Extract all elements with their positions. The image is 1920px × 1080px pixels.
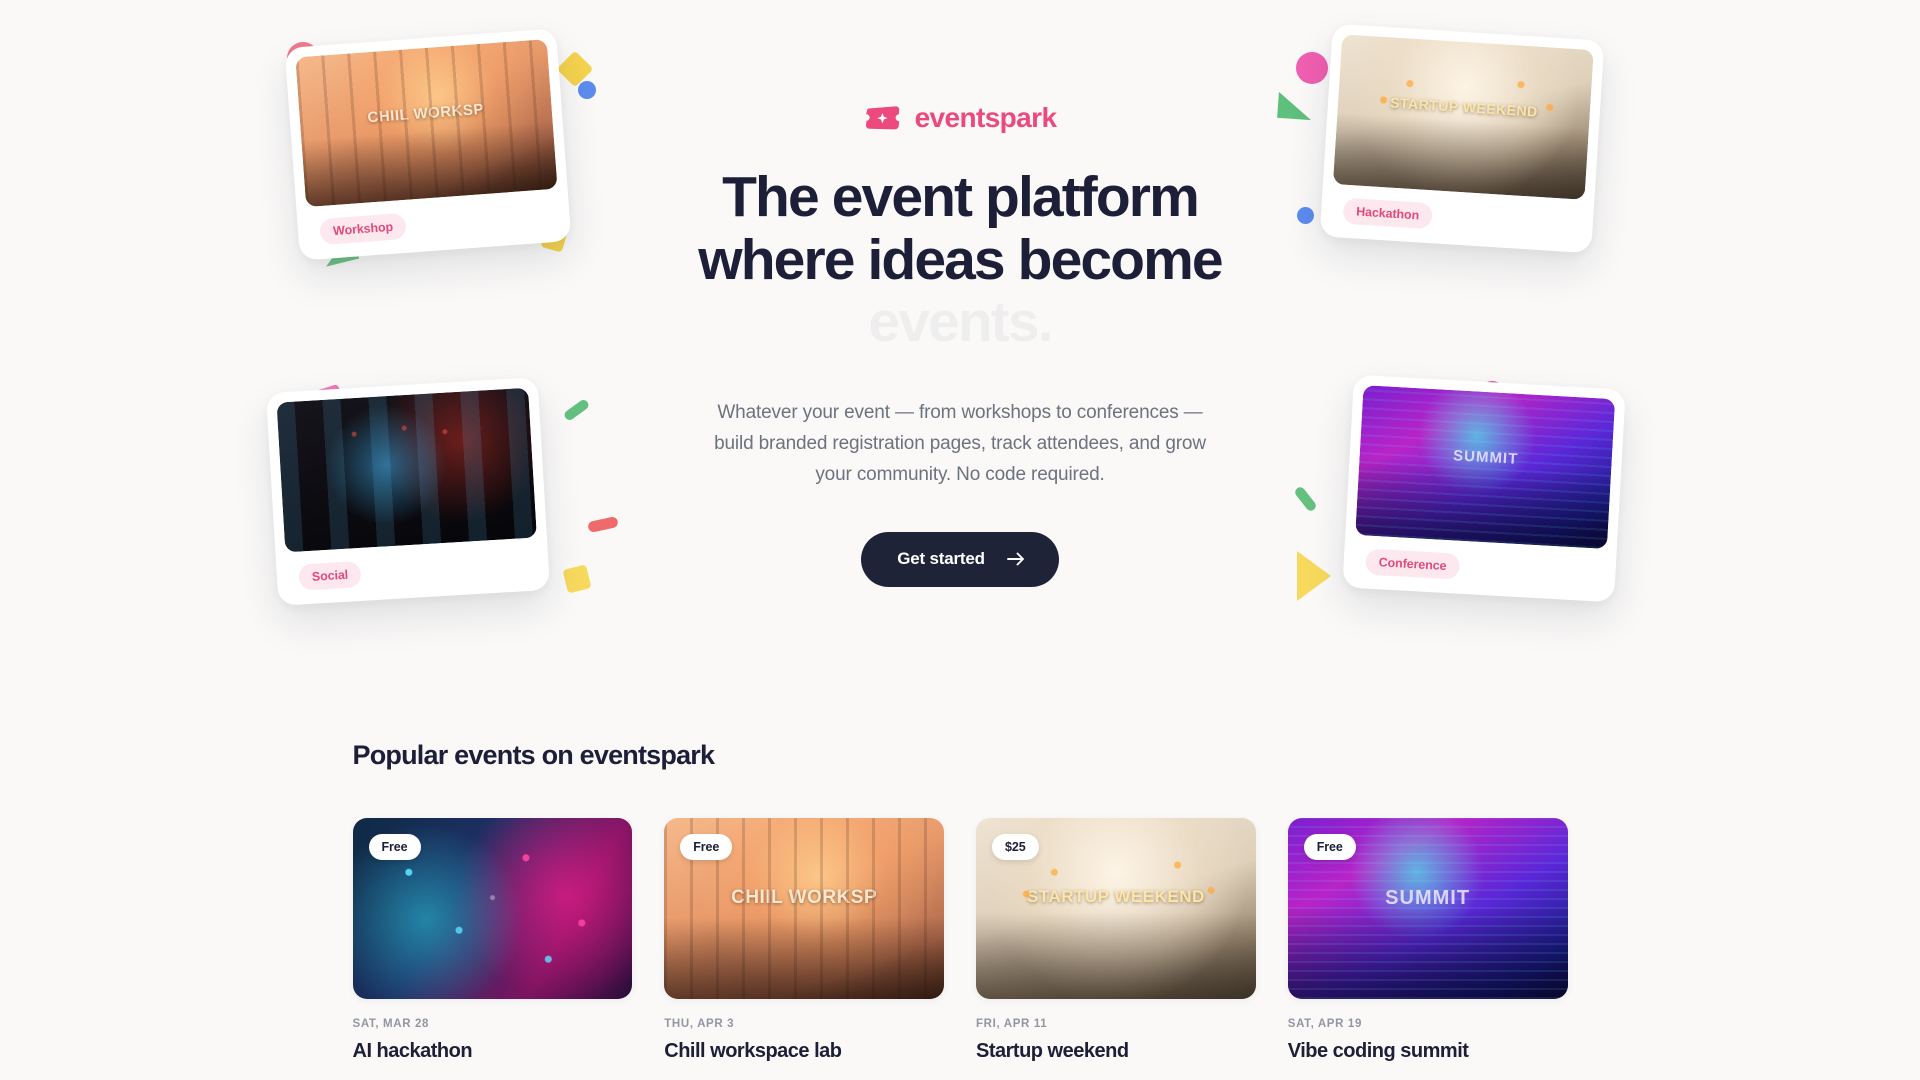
event-title[interactable]: Vibe coding summit bbox=[1288, 1039, 1568, 1064]
event-title[interactable]: AI hackathon bbox=[353, 1039, 633, 1064]
page-title: The event platform where ideas become ev… bbox=[550, 166, 1370, 354]
price-badge: $25 bbox=[992, 834, 1039, 860]
event-title[interactable]: Startup weekend bbox=[976, 1039, 1256, 1064]
arrow-right-icon bbox=[1007, 552, 1025, 566]
ticket-spark-icon bbox=[864, 105, 902, 132]
photo-wall-text: STARTUP WEEKEND bbox=[976, 887, 1256, 907]
brand-name: eventspark bbox=[915, 104, 1057, 132]
event-grid: Free SAT, MAR 28 AI hackathon Free CHIIL… bbox=[353, 818, 1568, 1064]
event-date: FRI, APR 11 bbox=[976, 1018, 1256, 1030]
event-photo-conference: SUMMIT bbox=[1355, 385, 1615, 549]
floating-card-social[interactable]: Social bbox=[266, 377, 550, 606]
photo-wall-text: SUMMIT bbox=[1359, 442, 1612, 473]
floating-card-workshop[interactable]: CHIIL WORKSP Workshop bbox=[285, 28, 572, 260]
photo-wall-text: STARTUP WEEKEND bbox=[1338, 91, 1591, 123]
event-photo-hackathon: STARTUP WEEKEND bbox=[1333, 34, 1594, 200]
brand-logo[interactable]: eventspark bbox=[550, 98, 1370, 138]
event-card-vibe-coding-summit[interactable]: Free SUMMIT SAT, APR 19 Vibe coding summ… bbox=[1288, 818, 1568, 1064]
event-photo-social bbox=[276, 388, 536, 553]
price-badge: Free bbox=[680, 834, 732, 860]
event-card-startup-weekend[interactable]: $25 STARTUP WEEKEND FRI, APR 11 Startup … bbox=[976, 818, 1256, 1064]
photo-wall-text: CHIIL WORKSP bbox=[664, 887, 944, 909]
event-thumbnail[interactable]: Free CHIIL WORKSP bbox=[664, 818, 944, 999]
event-card-chill-workspace-lab[interactable]: Free CHIIL WORKSP THU, APR 3 Chill works… bbox=[664, 818, 944, 1064]
landing-page: CHIIL WORKSP Workshop STARTUP WEEKEND Ha… bbox=[0, 0, 1920, 1080]
photo-wall-text: CHIIL WORKSP bbox=[299, 96, 552, 131]
event-thumbnail[interactable]: Free SUMMIT bbox=[1288, 818, 1568, 999]
hero-content: eventspark The event platform where idea… bbox=[550, 98, 1370, 587]
get-started-button[interactable]: Get started bbox=[861, 532, 1059, 587]
price-badge: Free bbox=[1304, 834, 1356, 860]
event-date: THU, APR 3 bbox=[664, 1018, 944, 1030]
price-badge: Free bbox=[369, 834, 421, 860]
get-started-label: Get started bbox=[897, 549, 985, 569]
event-date: SAT, APR 19 bbox=[1288, 1018, 1568, 1030]
floating-card-thumbnail bbox=[276, 388, 536, 553]
event-photo-workshop: CHIIL WORKSP bbox=[295, 39, 557, 207]
floating-card-thumbnail: STARTUP WEEKEND bbox=[1333, 34, 1594, 200]
section-title: Popular events on eventspark bbox=[353, 740, 1568, 771]
event-date: SAT, MAR 28 bbox=[353, 1018, 633, 1030]
category-chip: Conference bbox=[1365, 549, 1460, 580]
event-title[interactable]: Chill workspace lab bbox=[664, 1039, 944, 1064]
hero-section: CHIIL WORKSP Workshop STARTUP WEEKEND Ha… bbox=[0, 0, 1920, 700]
category-chip: Social bbox=[298, 561, 362, 591]
event-card-ai-hackathon[interactable]: Free SAT, MAR 28 AI hackathon bbox=[353, 818, 633, 1064]
floating-card-thumbnail: SUMMIT bbox=[1355, 385, 1615, 549]
popular-events-section: Popular events on eventspark Free SAT, M… bbox=[0, 740, 1920, 1064]
decor-circle-blue-top bbox=[578, 81, 596, 99]
cta-container: Get started bbox=[550, 532, 1370, 587]
floating-card-thumbnail: CHIIL WORKSP bbox=[295, 39, 557, 207]
event-thumbnail[interactable]: Free bbox=[353, 818, 633, 999]
category-chip: Workshop bbox=[319, 213, 407, 245]
headline-line-1: The event platform bbox=[550, 166, 1370, 229]
hero-subtitle: Whatever your event — from workshops to … bbox=[700, 398, 1220, 490]
event-thumbnail[interactable]: $25 STARTUP WEEKEND bbox=[976, 818, 1256, 999]
photo-wall-text: SUMMIT bbox=[1288, 887, 1568, 910]
floating-card-conference[interactable]: SUMMIT Conference bbox=[1342, 375, 1625, 603]
headline-line-2: where ideas become bbox=[550, 229, 1370, 292]
headline-line-3: events. bbox=[550, 291, 1370, 354]
decor-circle-pink-top-right bbox=[1296, 52, 1328, 84]
